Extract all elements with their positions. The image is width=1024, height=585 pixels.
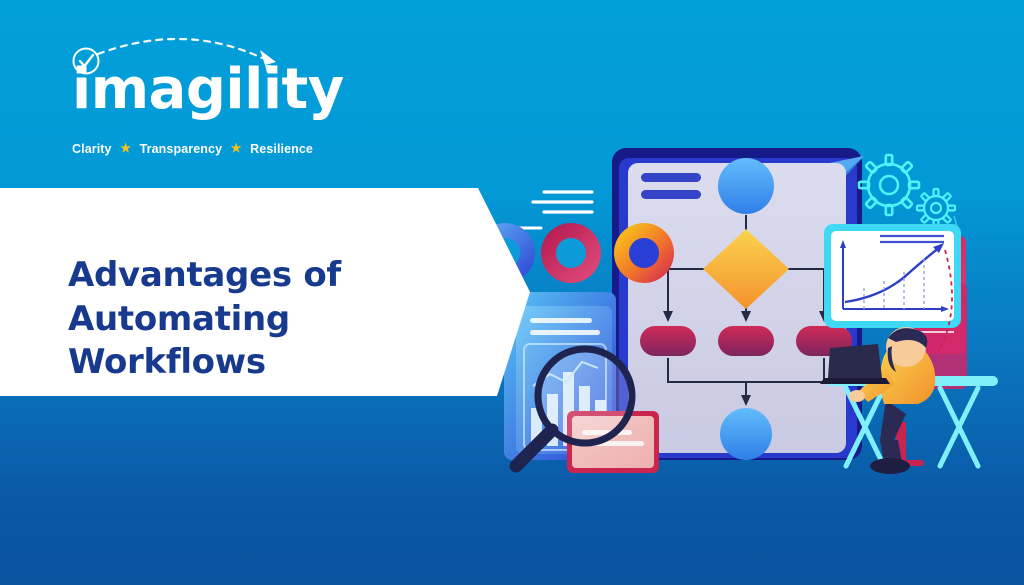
star-icon-2: ★ [231, 141, 242, 155]
growth-chart-screen [824, 224, 961, 328]
logo-tagline: Clarity ★ Transparency ★ Resilience [72, 142, 313, 156]
gear-large-icon [859, 155, 919, 215]
headline-line-2: Automating Workflows [68, 298, 498, 385]
gear-small-icon [917, 189, 955, 227]
end-circle [720, 408, 772, 460]
page-title: Advantages of Automating Workflows [68, 254, 498, 385]
headline-line-1: Advantages of [68, 254, 498, 298]
process-pill-1 [640, 326, 696, 356]
start-circle [718, 158, 774, 214]
brand-logo[interactable]: imagility Clarity ★ Transparency ★ Resil… [62, 32, 362, 144]
star-icon-1: ★ [120, 141, 131, 155]
process-pill-2 [718, 326, 774, 356]
dashed-arc-icon [98, 39, 262, 58]
donut-warm [614, 223, 674, 283]
tagline-item-transparency: Transparency [140, 142, 223, 156]
tagline-item-clarity: Clarity [72, 142, 112, 156]
flowchart-board [628, 158, 852, 460]
tagline-item-resilience: Resilience [250, 142, 313, 156]
laptop-icon [820, 344, 890, 384]
logo-wordmark: imagility [72, 62, 344, 118]
promo-banner: Advantages of Automating Workflows imagi… [0, 0, 1024, 585]
